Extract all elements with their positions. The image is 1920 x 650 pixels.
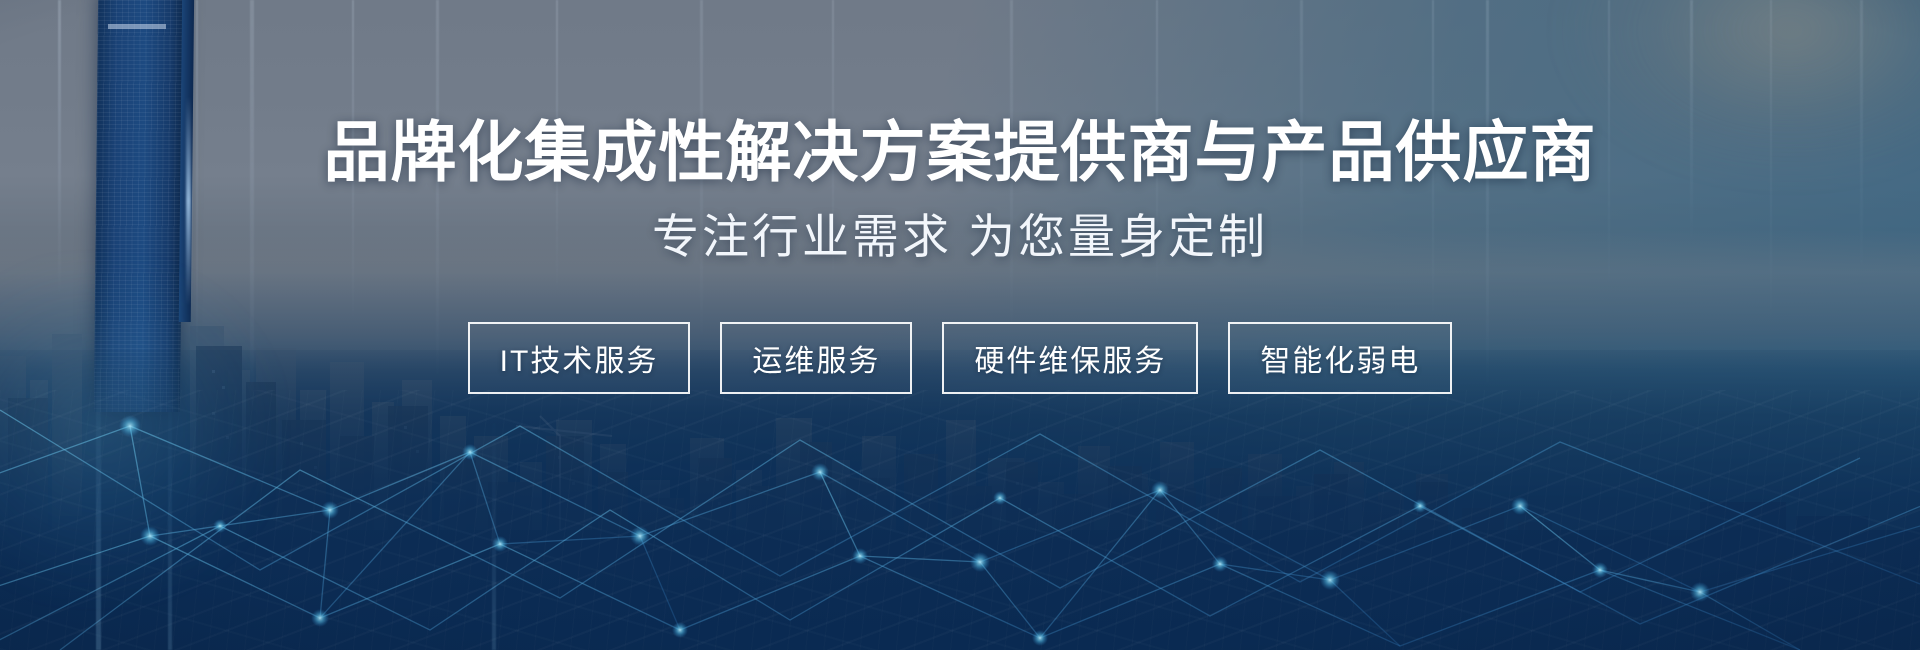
service-button-smart-low-voltage[interactable]: 智能化弱电: [1228, 322, 1452, 394]
service-button-hardware-maintenance[interactable]: 硬件维保服务: [942, 322, 1198, 394]
hero-banner: 品牌化集成性解决方案提供商与产品供应商 专注行业需求 为您量身定制 IT技术服务…: [0, 0, 1920, 650]
service-button-row: IT技术服务 运维服务 硬件维保服务 智能化弱电: [468, 322, 1453, 394]
banner-content: 品牌化集成性解决方案提供商与产品供应商 专注行业需求 为您量身定制 IT技术服务…: [0, 0, 1920, 650]
banner-title: 品牌化集成性解决方案提供商与产品供应商: [324, 119, 1597, 185]
banner-subtitle: 专注行业需求 为您量身定制: [652, 213, 1268, 260]
service-button-it[interactable]: IT技术服务: [468, 322, 691, 394]
service-button-ops[interactable]: 运维服务: [720, 322, 912, 394]
